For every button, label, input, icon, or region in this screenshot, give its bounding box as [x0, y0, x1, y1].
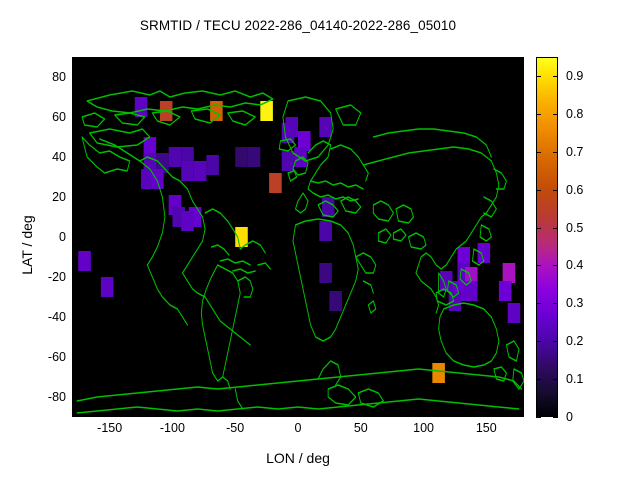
colorbar-tick-label: 0.5 — [566, 221, 583, 235]
y-tick-label: 80 — [22, 70, 66, 84]
x-tick-label: -50 — [205, 421, 265, 435]
x-tick-label: -100 — [142, 421, 202, 435]
colorbar-tick-label: 0.1 — [566, 372, 583, 386]
colorbar-tick-mark — [536, 152, 541, 153]
coastline-layer — [72, 57, 524, 417]
colorbar-tick-label: 0.9 — [566, 69, 583, 83]
y-tick-label: -40 — [22, 310, 66, 324]
x-tick-label: 100 — [394, 421, 454, 435]
colorbar-tick-mark — [553, 76, 558, 77]
colorbar-tick-label: 0.8 — [566, 107, 583, 121]
y-tick-label: 20 — [22, 190, 66, 204]
colorbar-tick-mark — [536, 190, 541, 191]
colorbar-tick-mark — [553, 417, 558, 418]
plot-figure: SRMTID / TECU 2022-286_04140-2022-286_05… — [0, 0, 640, 480]
y-tick-label: 40 — [22, 150, 66, 164]
colorbar-tick-label: 0.3 — [566, 296, 583, 310]
colorbar-tick-mark — [553, 379, 558, 380]
world-coastlines — [77, 91, 524, 413]
colorbar-tick-mark — [536, 417, 541, 418]
x-tick-label: 0 — [268, 421, 328, 435]
colorbar-tick-mark — [553, 190, 558, 191]
colorbar-tick-mark — [553, 303, 558, 304]
colorbar-tick-mark — [553, 265, 558, 266]
colorbar-tick-label: 0.4 — [566, 258, 583, 272]
x-tick-label: 150 — [456, 421, 516, 435]
colorbar-tick-mark — [553, 341, 558, 342]
map-plot-area — [72, 57, 524, 417]
colorbar-tick-mark — [536, 114, 541, 115]
colorbar-tick-mark — [553, 114, 558, 115]
colorbar-gradient — [536, 57, 558, 417]
colorbar-tick-label: 0 — [566, 410, 573, 424]
y-axis-label: LAT / deg — [19, 165, 35, 325]
colorbar-tick-label: 0.6 — [566, 183, 583, 197]
x-tick-label: 50 — [331, 421, 391, 435]
colorbar-tick-mark — [536, 341, 541, 342]
y-tick-label: -20 — [22, 270, 66, 284]
y-tick-label: 60 — [22, 110, 66, 124]
colorbar-tick-label: 0.2 — [566, 334, 583, 348]
colorbar-tick-mark — [536, 379, 541, 380]
y-tick-label: 0 — [22, 230, 66, 244]
colorbar — [536, 57, 558, 417]
x-tick-label: -150 — [80, 421, 140, 435]
y-tick-label: -80 — [22, 390, 66, 404]
x-axis-label: LON / deg — [72, 450, 524, 466]
colorbar-tick-mark — [553, 152, 558, 153]
colorbar-tick-label: 0.7 — [566, 145, 583, 159]
colorbar-tick-mark — [536, 228, 541, 229]
colorbar-tick-mark — [536, 265, 541, 266]
colorbar-tick-mark — [536, 76, 541, 77]
chart-title: SRMTID / TECU 2022-286_04140-2022-286_05… — [0, 18, 596, 33]
y-tick-label: -60 — [22, 350, 66, 364]
colorbar-tick-mark — [553, 228, 558, 229]
colorbar-tick-mark — [536, 303, 541, 304]
